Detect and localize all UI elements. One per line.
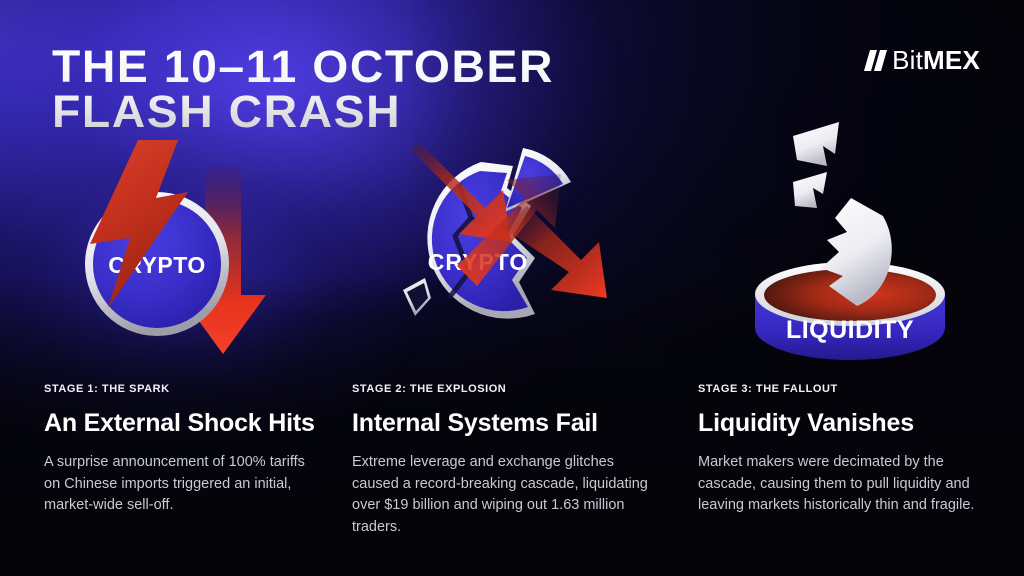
logo-text-light: Bit xyxy=(892,45,923,75)
stage-1-illustration: CRYPTO xyxy=(60,132,320,372)
stage-2-body: Extreme leverage and exchange glitches c… xyxy=(352,452,662,538)
stage-2-illustration: CRYPTO xyxy=(385,132,647,372)
stage-3-illustration: LIQUIDITY xyxy=(735,110,965,370)
liquidity-pool-label: LIQUIDITY xyxy=(786,316,914,344)
logo-text-bold: MEX xyxy=(923,45,980,75)
stage-3-column: STAGE 3: THE FALLOUT Liquidity Vanishes … xyxy=(698,383,980,517)
stage-2-title: Internal Systems Fail xyxy=(352,408,662,438)
stage-1-label: STAGE 1: THE SPARK xyxy=(44,383,316,395)
stage-2-column: STAGE 2: THE EXPLOSION Internal Systems … xyxy=(352,383,662,538)
bitmex-logo: BitMEX xyxy=(867,45,980,75)
bitmex-slash-mark-icon xyxy=(867,50,884,71)
stage-1-column: STAGE 1: THE SPARK An External Shock Hit… xyxy=(44,383,316,517)
infographic-canvas: THE 10–11 OCTOBER FLASH CRASH BitMEX xyxy=(0,0,1024,576)
coin-shard-icon xyxy=(403,278,431,316)
stage-3-label: STAGE 3: THE FALLOUT xyxy=(698,383,980,395)
stage-1-title: An External Shock Hits xyxy=(44,408,316,438)
white-shard-icon xyxy=(793,122,839,166)
page-title: THE 10–11 OCTOBER FLASH CRASH xyxy=(52,44,773,134)
stage-2-label: STAGE 2: THE EXPLOSION xyxy=(352,383,662,395)
stage-3-title: Liquidity Vanishes xyxy=(698,408,980,438)
white-shard-icon xyxy=(793,172,827,208)
bitmex-logo-text: BitMEX xyxy=(892,47,980,73)
stage-1-body: A surprise announcement of 100% tariffs … xyxy=(44,452,316,517)
stage-3-body: Market makers were decimated by the casc… xyxy=(698,452,980,517)
